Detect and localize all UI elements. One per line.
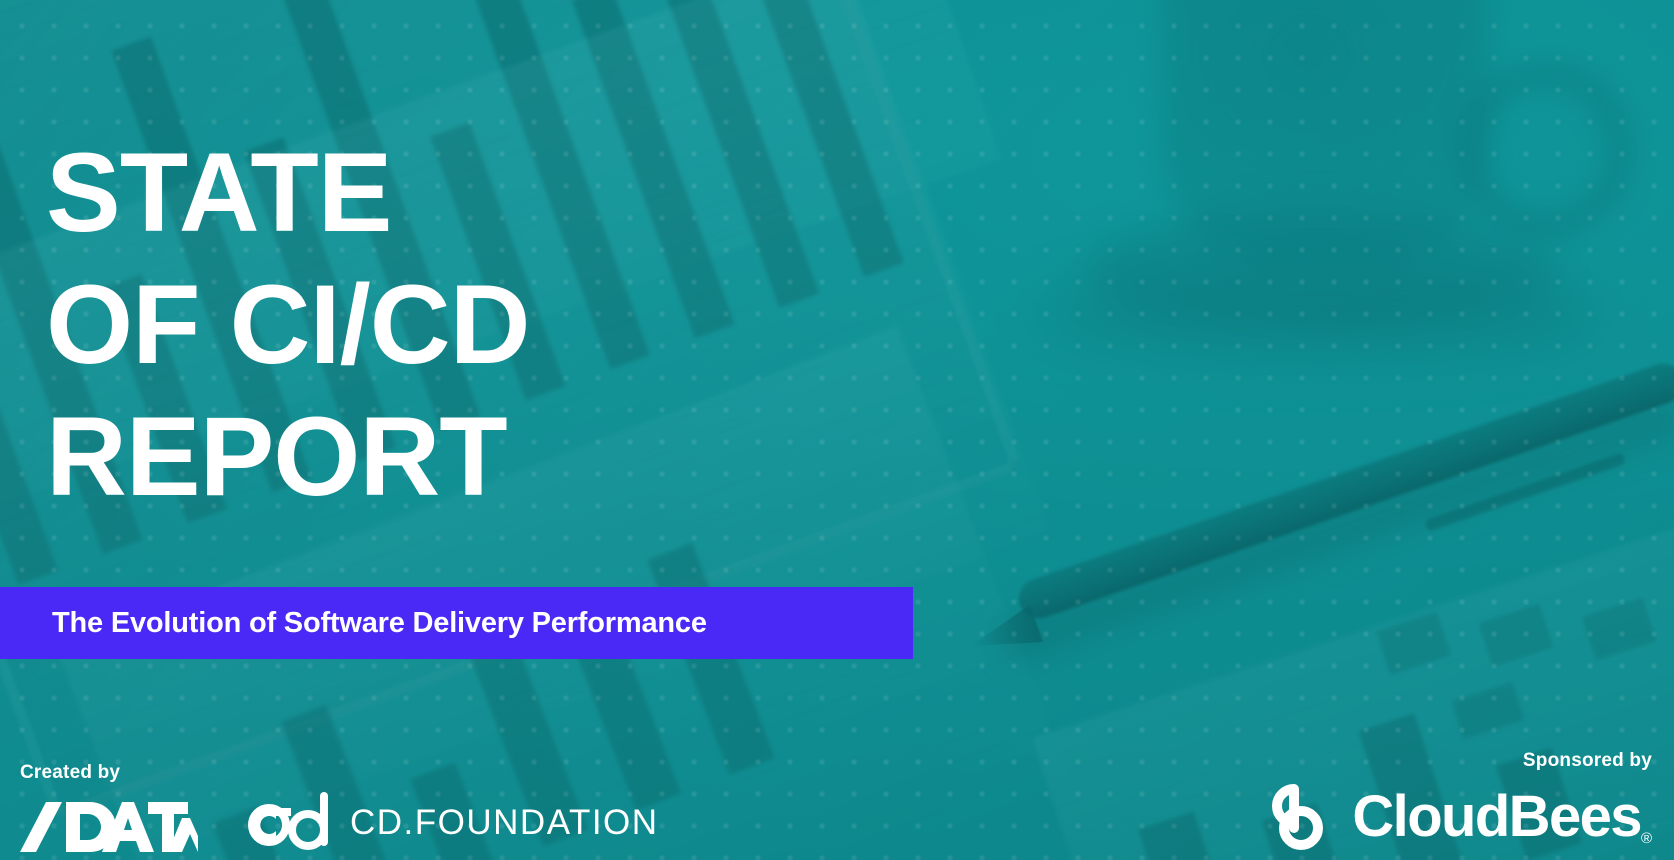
cd-foundation-mark xyxy=(244,792,340,854)
page-title: STATE OF CI/CD REPORT xyxy=(46,127,530,523)
cd-foundation-wordmark: CD.FOUNDATION xyxy=(350,805,659,842)
cover-content: STATE OF CI/CD REPORT The Evolution of S… xyxy=(0,0,1674,860)
subtitle-text: The Evolution of Software Delivery Perfo… xyxy=(0,607,707,640)
report-cover: STATE OF CI/CD REPORT The Evolution of S… xyxy=(0,0,1674,860)
created-by-logo-row: CD.FOUNDATION xyxy=(20,792,780,860)
cloudbees-mark xyxy=(1256,780,1334,854)
registered-trademark-icon: ® xyxy=(1641,830,1652,847)
created-by-block: Created by xyxy=(20,762,780,860)
sponsored-by-block: Sponsored by CloudBees® xyxy=(1256,750,1652,860)
created-by-label: Created by xyxy=(20,762,780,784)
cd-foundation-logo[interactable]: CD.FOUNDATION xyxy=(244,792,659,854)
subtitle-band: The Evolution of Software Delivery Perfo… xyxy=(0,587,913,659)
sponsor-logo-row: CloudBees® xyxy=(1256,780,1652,860)
cloudbees-wordmark-text: CloudBees xyxy=(1352,784,1641,849)
slashdata-logo[interactable] xyxy=(20,800,198,854)
sponsored-by-label: Sponsored by xyxy=(1256,750,1652,772)
cloudbees-logo[interactable]: CloudBees® xyxy=(1256,780,1652,854)
cloudbees-wordmark: CloudBees® xyxy=(1352,788,1652,846)
